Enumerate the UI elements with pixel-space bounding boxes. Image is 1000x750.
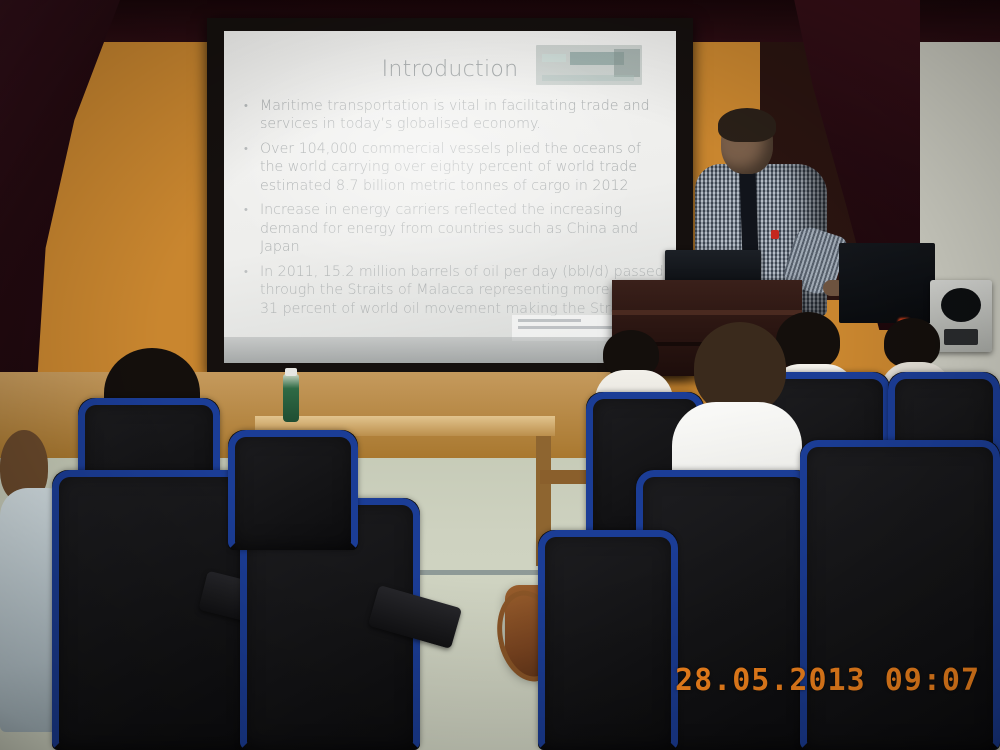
bottle-cap [285,368,297,376]
bullet-marker-icon: • [244,140,260,195]
presenter-badge-icon [771,230,779,239]
presenter-hair [718,108,776,142]
conference-photo: Introduction • Maritime transportation i… [0,0,1000,750]
seat-row2-right[interactable] [800,440,1000,750]
slide-bullet-2: • Over 104,000 commercial vessels plied … [244,140,664,195]
laptop-closed [839,243,935,323]
speaker-cone-icon [941,288,981,322]
camera-datestamp: 28.05.2013 09:07 [675,663,980,698]
slide-bullet-list: • Maritime transportation is vital in fa… [244,97,664,324]
seat-row2-left[interactable] [52,470,252,750]
institution-logo-icon [536,45,642,85]
bullet-marker-icon: • [244,97,260,134]
bullet-marker-icon: • [244,263,260,318]
bullet-marker-icon: • [244,201,260,256]
slide-bullet-3: • Increase in energy carriers reflected … [244,201,664,256]
water-bottle [283,374,299,422]
projection-screen: Introduction • Maritime transportation i… [224,31,676,363]
slide-bullet-4: • In 2011, 15.2 million barrels of oil p… [244,263,664,318]
seat-aisle-right[interactable] [538,530,678,750]
seat-row1-left-inner[interactable] [228,430,358,550]
slide-bullet-1: • Maritime transportation is vital in fa… [244,97,664,134]
